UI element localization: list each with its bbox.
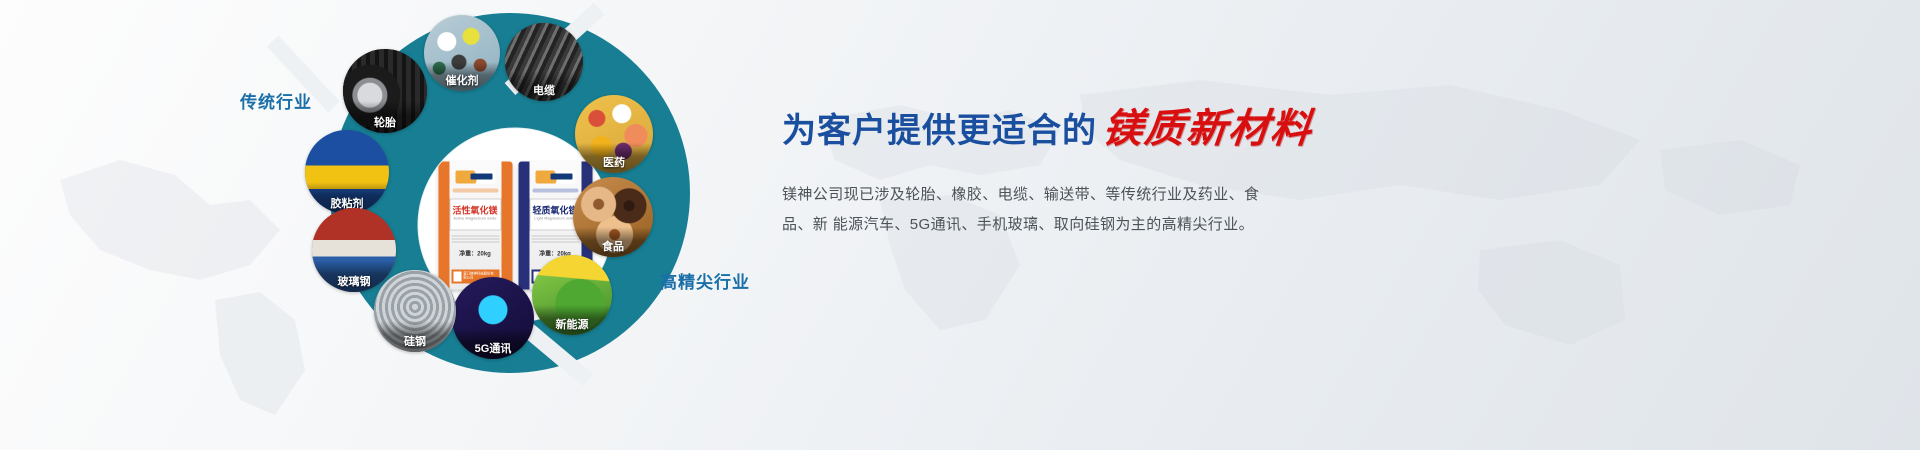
industry-thumb-silicon-steel[interactable]: 硅钢: [374, 270, 456, 352]
description-paragraph: 镁神公司现已涉及轮胎、橡胶、电缆、输送带、等传统行业及药业、食品、新 能源汽车、…: [782, 180, 1272, 240]
industry-thumb-label: 食品: [573, 227, 653, 257]
industry-thumb-food[interactable]: 食品: [573, 177, 653, 257]
bag-side-stripe-left: [518, 161, 529, 289]
headline-blue-text: 为客户提供更适合的: [782, 103, 1097, 152]
bag-title-en: Active Magnesium oxide: [453, 218, 496, 222]
industry-thumb-label: 轮胎: [343, 101, 427, 133]
industry-thumb-label: 硅钢: [374, 321, 456, 352]
label-traditional-industries: 传统行业: [240, 88, 312, 113]
industry-thumb-tire[interactable]: 轮胎: [343, 49, 427, 133]
bag-weight: 净重：20kg: [459, 248, 491, 257]
headline-red-text: 镁质新材料: [1100, 96, 1316, 154]
bag-band: [532, 188, 578, 192]
industry-thumb-label: 电缆: [505, 71, 583, 101]
industry-thumb-cable[interactable]: 电缆: [505, 23, 583, 101]
industry-thumb-label: 5G通讯: [452, 328, 534, 359]
bag-spec-lines: [451, 235, 499, 244]
bag-spec-lines: [531, 235, 579, 244]
industry-thumb-label: 催化剂: [424, 62, 500, 91]
bag-title-box: 活性氧化镁 Active Magnesium oxide: [449, 198, 501, 230]
industry-thumb-catalyst[interactable]: 催化剂: [424, 15, 500, 91]
brand-logo-icon: [455, 170, 495, 183]
label-high-tech-industries: 高精尖行业: [660, 268, 750, 293]
bag-title-cn: 轻质氧化镁: [532, 207, 577, 216]
bag-title-en: Light Magnesium oxide: [534, 218, 575, 222]
description-line-2: 能源汽车、5G通讯、手机玻璃、取向硅钢为主的高精尖行业。: [833, 216, 1254, 233]
copy-block: 为客户提供更适合的 镁质新材料 镁神公司现已涉及轮胎、橡胶、电缆、输送带、等传统…: [782, 96, 1482, 240]
industry-thumb-5g[interactable]: 5G通讯: [452, 277, 534, 359]
bag-side-stripe-right: [501, 161, 512, 289]
bag-band: [452, 188, 498, 192]
promo-banner: 活性氧化镁 Active Magnesium oxide 净重：20kg 营口镁…: [0, 0, 1920, 450]
brand-logo-icon: [535, 170, 575, 183]
industry-thumb-pharma[interactable]: 医药: [575, 95, 653, 173]
bag-title-cn: 活性氧化镁: [452, 207, 497, 216]
industry-thumb-adhesive[interactable]: 胶粘剂: [305, 130, 389, 214]
industry-thumb-new-energy[interactable]: 新能源: [532, 255, 612, 335]
headline: 为客户提供更适合的 镁质新材料: [782, 96, 1482, 154]
industry-wheel: 活性氧化镁 Active Magnesium oxide 净重：20kg 营口镁…: [300, 5, 730, 445]
industry-thumb-label: 医药: [575, 143, 653, 173]
industry-thumb-label: 新能源: [532, 305, 612, 335]
